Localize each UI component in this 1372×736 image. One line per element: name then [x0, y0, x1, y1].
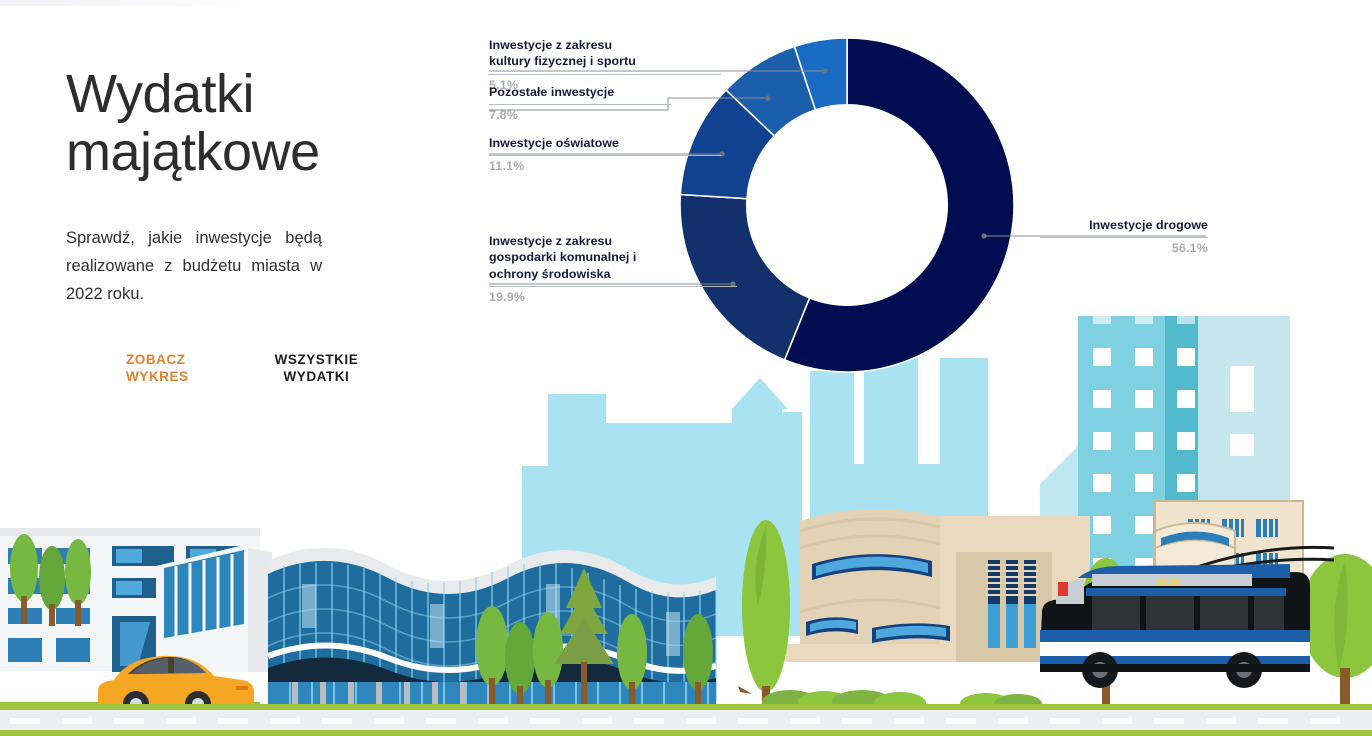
callout-pozostale: Pozostałe inwestycje 7.8% — [489, 84, 671, 122]
callout-rule — [1040, 237, 1208, 238]
donut-chart-svg — [678, 36, 1016, 374]
see-chart-label-line2: WYKRES — [126, 368, 189, 385]
page-root: Wydatki majątkowe Sprawdź, jakie inwesty… — [0, 0, 1372, 736]
callout-pozostale-percent: 7.8% — [489, 108, 671, 122]
callout-gospodarka-komunalna-percent: 19.9% — [489, 290, 737, 304]
callout-drogowe: Inwestycje drogowe 56.1% — [1040, 217, 1208, 255]
louvre-building — [956, 552, 1052, 662]
intro-paragraph: Sprawdź, jakie inwestycje będą realizowa… — [66, 224, 322, 309]
round-tree-right — [1301, 554, 1372, 708]
all-expenses-button[interactable]: WSZYSTKIE WYDATKI — [275, 351, 359, 386]
left-glass-wing — [156, 544, 272, 672]
donut-chart — [678, 36, 1016, 374]
callout-rule — [489, 104, 671, 105]
callout-rule — [489, 286, 737, 287]
intro-block: Wydatki majątkowe Sprawdź, jakie inwesty… — [66, 66, 446, 385]
page-title: Wydatki majątkowe — [66, 66, 446, 182]
cta-row: ZOBACZ WYKRES WSZYSTKIE WYDATKI — [66, 351, 446, 386]
callout-oswiatowe-label: Inwestycje oświatowe — [489, 135, 721, 151]
callout-gospodarka-komunalna-label: Inwestycje z zakresu gospodarki komunaln… — [489, 233, 737, 282]
callout-oswiatowe-percent: 11.1% — [489, 159, 721, 173]
callout-pozostale-label: Pozostałe inwestycje — [489, 84, 671, 100]
page-title-line2: majątkowe — [66, 124, 446, 182]
all-expenses-label-line1: WSZYSTKIE — [275, 351, 359, 368]
road-edge-bottom — [0, 730, 1372, 736]
all-expenses-label-line2: WYDATKI — [275, 368, 359, 385]
callout-drogowe-percent: 56.1% — [1040, 241, 1208, 255]
callout-rule — [489, 74, 721, 75]
page-title-line1: Wydatki — [66, 66, 446, 124]
road-edge-top — [0, 704, 1372, 710]
bus-number: 3048 — [1156, 577, 1180, 589]
callout-rule — [489, 155, 721, 156]
callout-drogowe-label: Inwestycje drogowe — [1040, 217, 1208, 233]
see-chart-label-line1: ZOBACZ — [126, 351, 189, 368]
tree-group-left — [10, 534, 91, 626]
see-chart-button[interactable]: ZOBACZ WYKRES — [126, 351, 189, 386]
callout-gospodarka-komunalna: Inwestycje z zakresu gospodarki komunaln… — [489, 233, 737, 304]
top-accent-bar — [0, 0, 240, 6]
callout-kultura-sport-label: Inwestycje z zakresu kultury fizycznej i… — [489, 37, 721, 70]
callout-oswiatowe: Inwestycje oświatowe 11.1% — [489, 135, 721, 173]
